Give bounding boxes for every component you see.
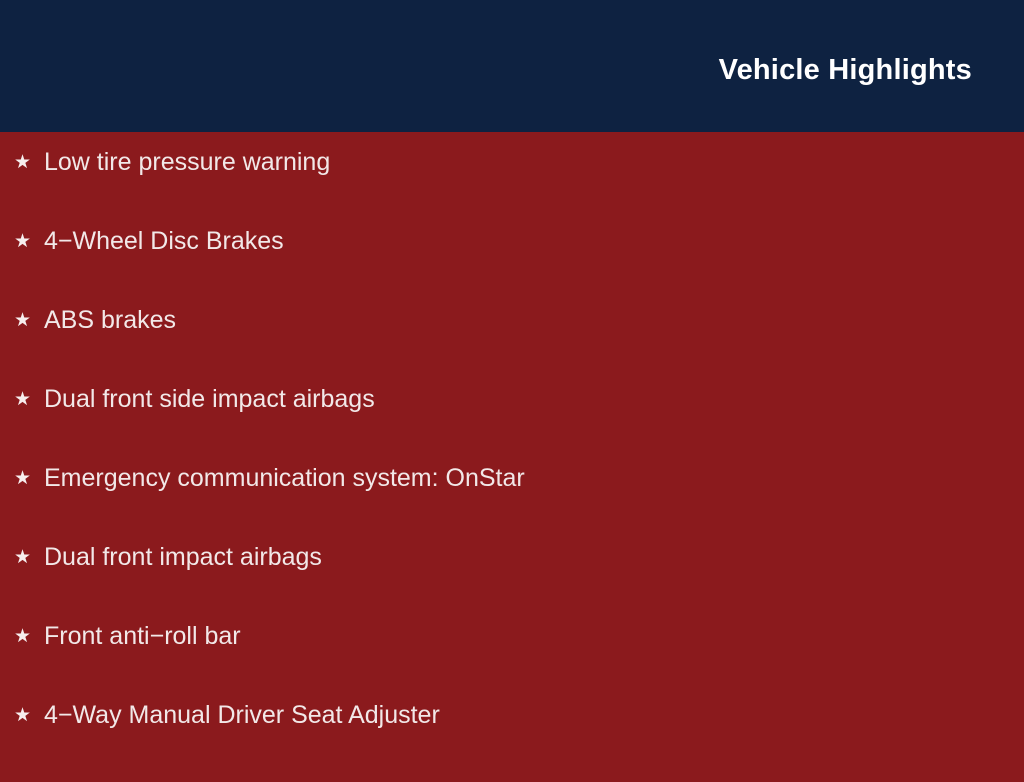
list-item: ★ 4−Way Manual Driver Seat Adjuster <box>0 703 1024 782</box>
feature-label: Low tire pressure warning <box>44 150 330 175</box>
feature-label: Emergency communication system: OnStar <box>44 466 525 491</box>
vehicle-feature-list: ★ Low tire pressure warning ★ 4−Wheel Di… <box>0 150 1024 782</box>
star-icon: ★ <box>14 469 44 488</box>
feature-label: Dual front impact airbags <box>44 545 322 570</box>
list-item: ★ ABS brakes <box>0 308 1024 387</box>
star-icon: ★ <box>14 390 44 409</box>
list-item: ★ Emergency communication system: OnStar <box>0 466 1024 545</box>
list-item: ★ Dual front impact airbags <box>0 545 1024 624</box>
feature-label: 4−Wheel Disc Brakes <box>44 229 284 254</box>
feature-label: ABS brakes <box>44 308 176 333</box>
list-item: ★ Dual front side impact airbags <box>0 387 1024 466</box>
list-item: ★ 4−Wheel Disc Brakes <box>0 229 1024 308</box>
star-icon: ★ <box>14 548 44 567</box>
list-item: ★ Low tire pressure warning <box>0 150 1024 229</box>
vehicle-highlights-slide: Vehicle Highlights ★ Low tire pressure w… <box>0 0 1024 768</box>
list-item: ★ Front anti−roll bar <box>0 624 1024 703</box>
star-icon: ★ <box>14 153 44 172</box>
page-title: Vehicle Highlights <box>719 55 972 87</box>
slide-header: Vehicle Highlights <box>0 0 1024 132</box>
feature-label: Front anti−roll bar <box>44 624 241 649</box>
star-icon: ★ <box>14 232 44 251</box>
star-icon: ★ <box>14 311 44 330</box>
slide-body: ★ Low tire pressure warning ★ 4−Wheel Di… <box>0 132 1024 782</box>
feature-label: Dual front side impact airbags <box>44 387 375 412</box>
feature-label: 4−Way Manual Driver Seat Adjuster <box>44 703 440 728</box>
star-icon: ★ <box>14 627 44 646</box>
star-icon: ★ <box>14 706 44 725</box>
